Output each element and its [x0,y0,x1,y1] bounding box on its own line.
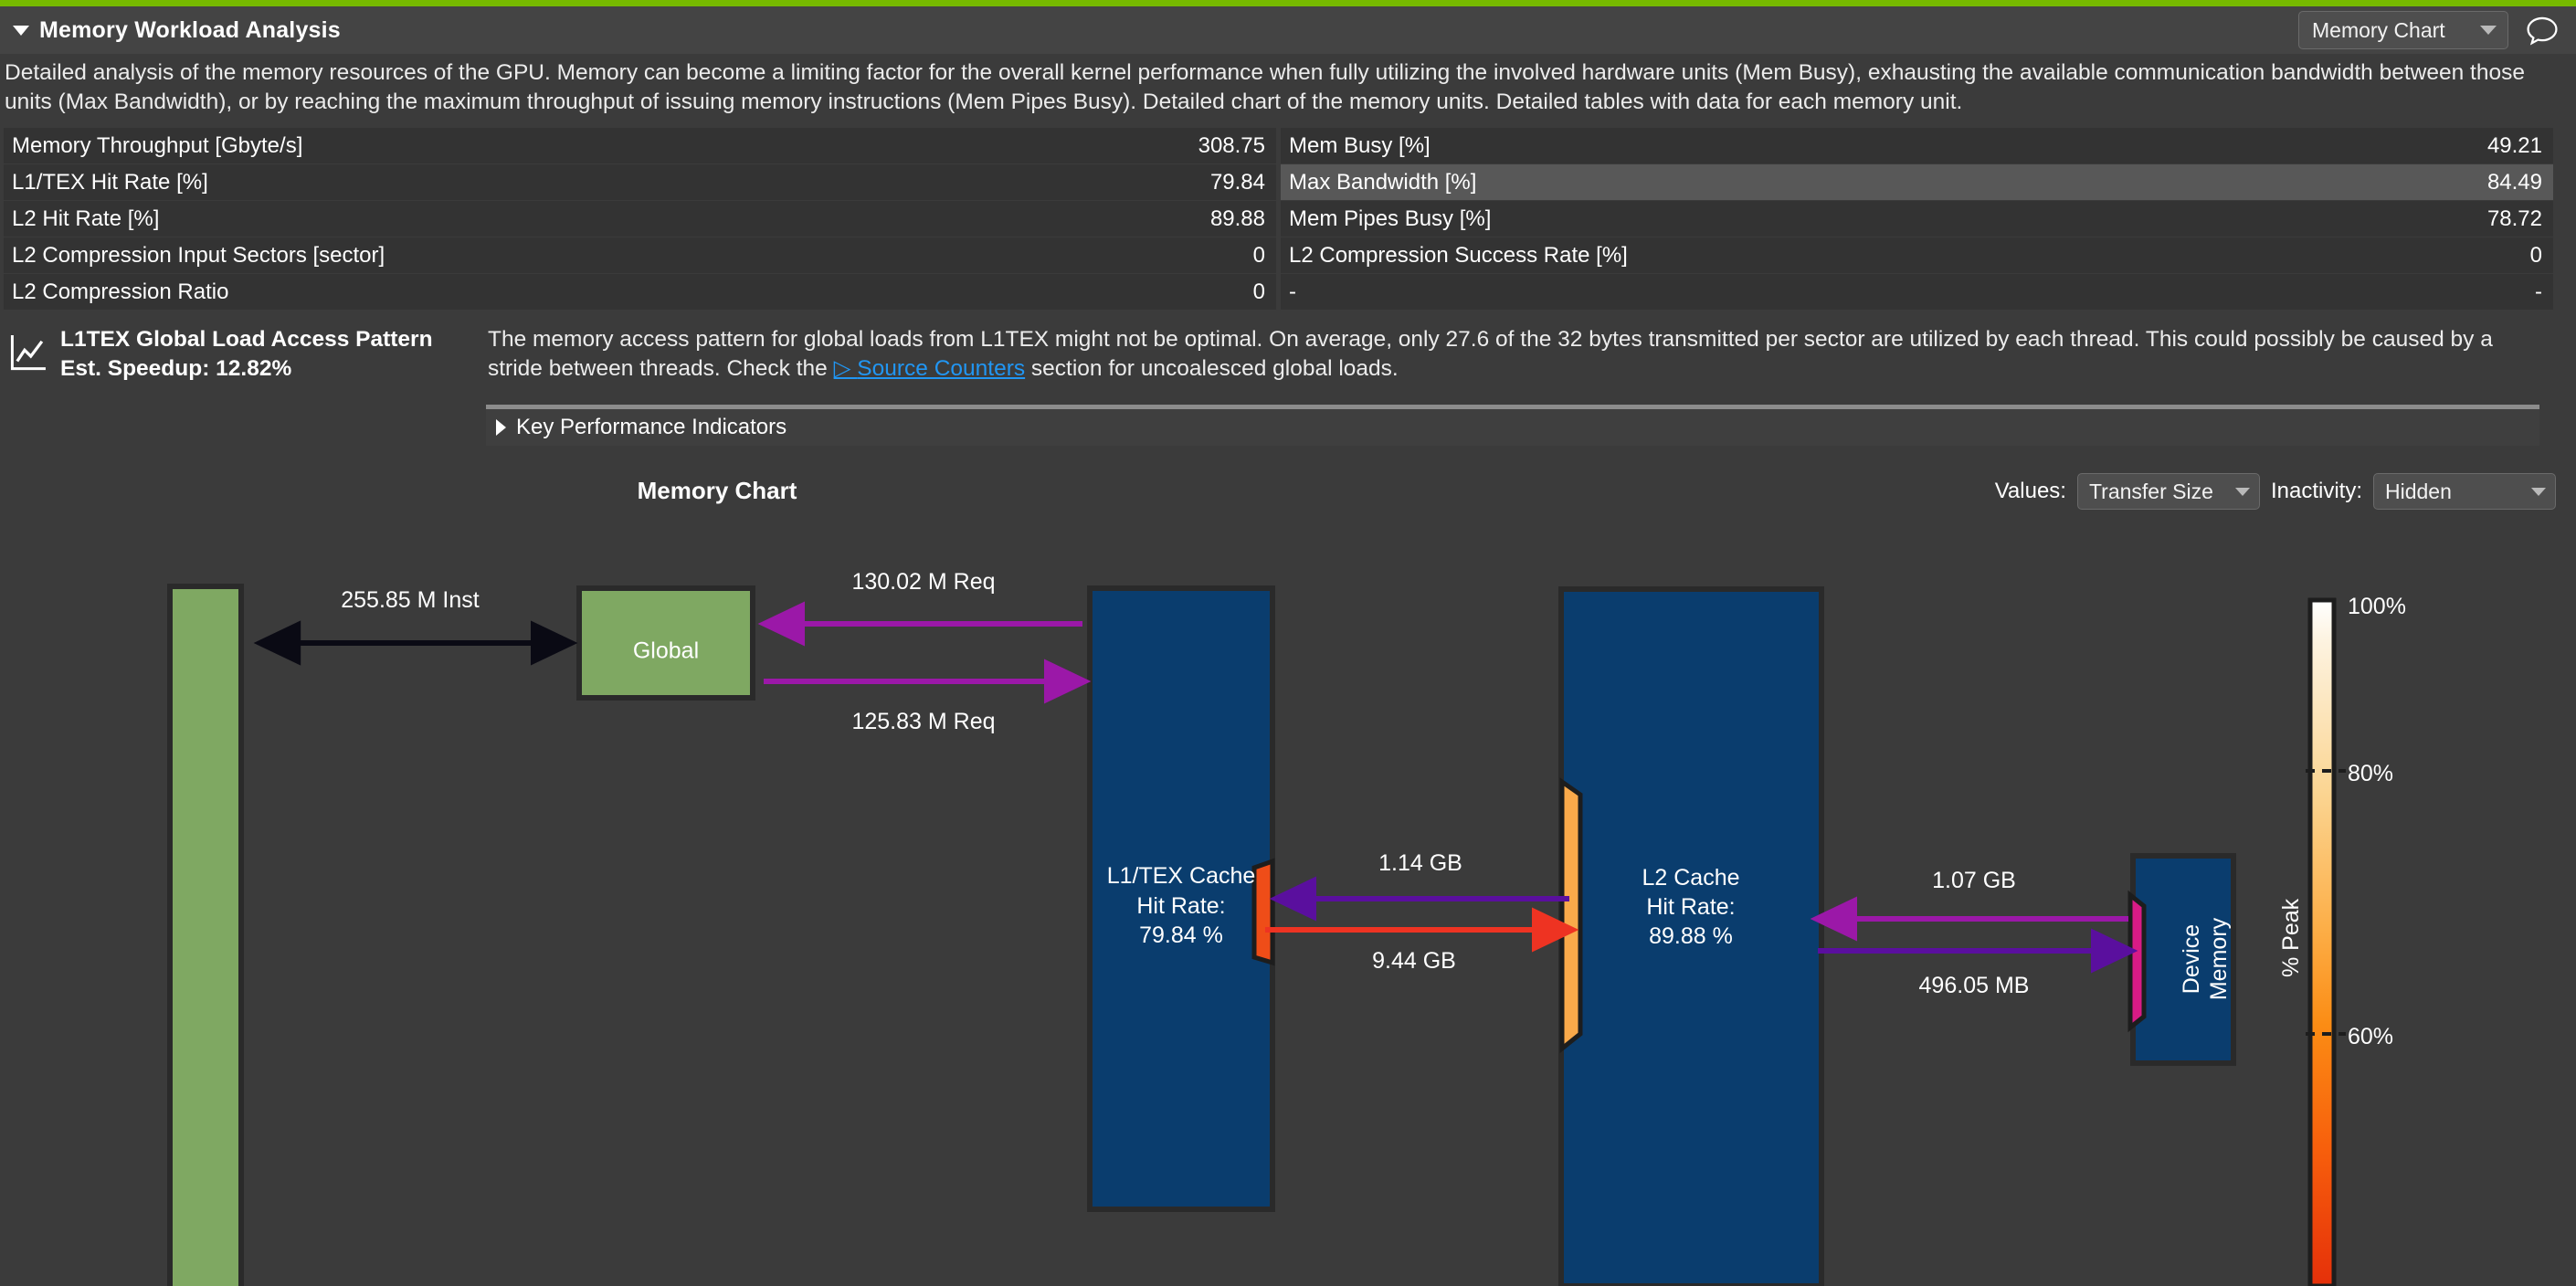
metric-label: L1/TEX Hit Rate [%] [4,170,1210,195]
recommendation-text-part2: section for uncoalesced global loads. [1025,356,1399,381]
header-actions: Memory Chart [2298,11,2576,49]
metric-value: 0 [1253,243,1276,269]
caret-down-icon[interactable] [13,26,29,36]
global-unit-box[interactable]: Global [579,588,753,698]
speech-bubble-icon[interactable] [2525,13,2560,47]
section-description: Detailed analysis of the memory resource… [0,57,2576,117]
inactivity-dropdown[interactable]: Hidden [2373,473,2556,510]
kpi-collapsible-header[interactable]: Key Performance Indicators [486,409,2539,446]
caret-right-icon[interactable] [496,419,506,436]
kernel-unit-bar[interactable] [170,586,241,1286]
metric-label: Max Bandwidth [%] [1281,170,2487,195]
l2-cache-box[interactable]: L2 Cache Hit Rate: 89.88 % [1561,589,1821,1286]
line-chart-icon [7,332,49,374]
metric-label: Mem Pipes Busy [%] [1281,206,2487,232]
values-dropdown-value: Transfer Size [2089,480,2213,504]
edge-kernel-global-label: 255.85 M Inst [341,587,480,613]
accent-bar [0,0,2576,6]
peak-legend: % Peak 100% 80% 60% [2278,594,2406,1286]
l2-cache-label-line3: 89.88 % [1649,923,1733,949]
metric-label: L2 Compression Success Rate [%] [1281,243,2530,269]
metric-value: 0 [1253,279,1276,305]
memory-chart-svg: Global L1/TEX Cache Hit Rate: 79.84 % L2… [0,511,2576,1286]
l2-cache-label-line2: Hit Rate: [1646,894,1735,920]
chevron-down-icon [2235,488,2250,496]
table-row[interactable]: Memory Throughput [Gbyte/s] 308.75 Mem B… [4,128,2572,164]
metric-label: L2 Compression Input Sectors [sector] [4,243,1253,269]
metric-value: 0 [2530,243,2553,269]
section-header: Memory Workload Analysis Memory Chart [0,6,2576,54]
metric-label: - [1281,279,2535,305]
metric-cell-left[interactable]: L2 Compression Ratio 0 [4,274,1276,310]
table-row[interactable]: L2 Compression Ratio 0 - - [4,274,2572,311]
metric-cell-left[interactable]: L2 Hit Rate [%] 89.88 [4,201,1276,237]
metric-value: 78.72 [2487,206,2553,232]
metric-value: 84.49 [2487,170,2553,195]
edge-l1tex-to-global-label: 130.02 M Req [851,569,995,595]
key-performance-indicators-section: Key Performance Indicators [486,405,2539,446]
chart-title: Memory Chart [0,477,1434,505]
inactivity-dropdown-value: Hidden [2385,480,2452,504]
metric-value: 79.84 [1210,170,1276,195]
metric-label: L2 Hit Rate [%] [4,206,1210,232]
metric-cell-left[interactable]: Memory Throughput [Gbyte/s] 308.75 [4,128,1276,163]
peak-legend-tick-100: 100% [2348,594,2406,619]
source-counters-link[interactable]: ▷ Source Counters [834,356,1026,381]
peak-legend-axis-label: % Peak [2278,898,2304,977]
peak-legend-tick-60: 60% [2348,1024,2393,1049]
global-unit-label: Global [633,638,699,664]
device-memory-label-line1: Device [2179,924,2204,994]
chevron-down-icon [2480,26,2497,35]
metric-value: 49.21 [2487,133,2553,159]
memory-workload-analysis-page: Memory Workload Analysis Memory Chart De… [0,0,2576,1286]
kpi-label: Key Performance Indicators [516,415,787,440]
edge-l1tex-to-l2[interactable]: 9.44 GB [1265,930,1571,974]
recommendation-block: L1TEX Global Load Access Pattern Est. Sp… [0,325,2576,384]
section-select-dropdown[interactable]: Memory Chart [2298,11,2508,49]
metric-value: - [2535,279,2553,305]
edge-l1tex-to-l2-label: 9.44 GB [1372,948,1456,974]
edge-l2-to-l1tex[interactable]: 1.14 GB [1277,850,1569,899]
table-row[interactable]: L2 Compression Input Sectors [sector] 0 … [4,237,2572,274]
recommendation-body: The memory access pattern for global loa… [488,325,2576,384]
l1tex-cache-label-line3: 79.84 % [1139,922,1223,948]
device-memory-box[interactable]: Device Memory [2130,856,2233,1063]
l1tex-cache-label-line1: L1/TEX Cache [1107,863,1256,889]
l2-cache-label-line1: L2 Cache [1642,865,1739,891]
metric-label: Mem Busy [%] [1281,133,2487,159]
recommendation-title-line1: L1TEX Global Load Access Pattern [60,325,479,354]
metric-label: L2 Compression Ratio [4,279,1253,305]
values-dropdown[interactable]: Transfer Size [2077,473,2260,510]
metric-cell-right[interactable]: Mem Busy [%] 49.21 [1281,128,2553,163]
recommendation-title: L1TEX Global Load Access Pattern Est. Sp… [49,325,479,384]
peak-legend-tick-80: 80% [2348,761,2393,786]
chevron-down-icon [2531,488,2546,496]
metric-cell-right-selected[interactable]: Max Bandwidth [%] 84.49 [1281,164,2553,200]
metric-cell-left[interactable]: L1/TEX Hit Rate [%] 79.84 [4,164,1276,200]
metric-cell-right[interactable]: Mem Pipes Busy [%] 78.72 [1281,201,2553,237]
edge-l2-to-device-label: 496.05 MB [1919,973,2030,998]
edge-l1tex-to-global[interactable]: 130.02 M Req [765,569,1082,624]
metrics-table: Memory Throughput [Gbyte/s] 308.75 Mem B… [4,128,2572,311]
source-counters-link-text: Source Counters [857,356,1025,381]
metric-cell-right[interactable]: L2 Compression Success Rate [%] 0 [1281,237,2553,273]
edge-l2-to-l1tex-label: 1.14 GB [1378,850,1462,876]
device-memory-label-line2: Memory [2206,917,2232,1000]
chart-controls: Values: Transfer Size Inactivity: Hidden [1995,473,2556,510]
recommendation-speedup: Est. Speedup: 12.82% [60,354,479,384]
metric-value: 89.88 [1210,206,1276,232]
table-row[interactable]: L2 Hit Rate [%] 89.88 Mem Pipes Busy [%]… [4,201,2572,237]
table-row[interactable]: L1/TEX Hit Rate [%] 79.84 Max Bandwidth … [4,164,2572,201]
l1tex-cache-label-line2: Hit Rate: [1136,893,1225,919]
metric-cell-left[interactable]: L2 Compression Input Sectors [sector] 0 [4,237,1276,273]
edge-device-to-l2-label: 1.07 GB [1932,868,2016,893]
metric-value: 308.75 [1198,133,1276,159]
edge-kernel-global[interactable]: 255.85 M Inst [261,587,570,643]
page-title: Memory Workload Analysis [39,17,341,44]
metric-cell-right[interactable]: - - [1281,274,2553,310]
memory-chart-diagram: Global L1/TEX Cache Hit Rate: 79.84 % L2… [0,511,2576,1286]
metric-label: Memory Throughput [Gbyte/s] [4,133,1198,159]
section-select-value: Memory Chart [2312,18,2445,43]
inactivity-label: Inactivity: [2271,479,2362,504]
edge-global-to-l1tex-label: 125.83 M Req [851,709,995,734]
values-label: Values: [1995,479,2066,504]
edge-device-to-l2[interactable]: 1.07 GB [1818,868,2128,919]
edge-global-to-l1tex[interactable]: 125.83 M Req [764,681,1083,734]
edge-l2-to-device[interactable]: 496.05 MB [1818,951,2130,998]
l1tex-cache-box[interactable]: L1/TEX Cache Hit Rate: 79.84 % [1090,588,1272,1209]
recommendation-text-part1: The memory access pattern for global loa… [488,327,2493,381]
